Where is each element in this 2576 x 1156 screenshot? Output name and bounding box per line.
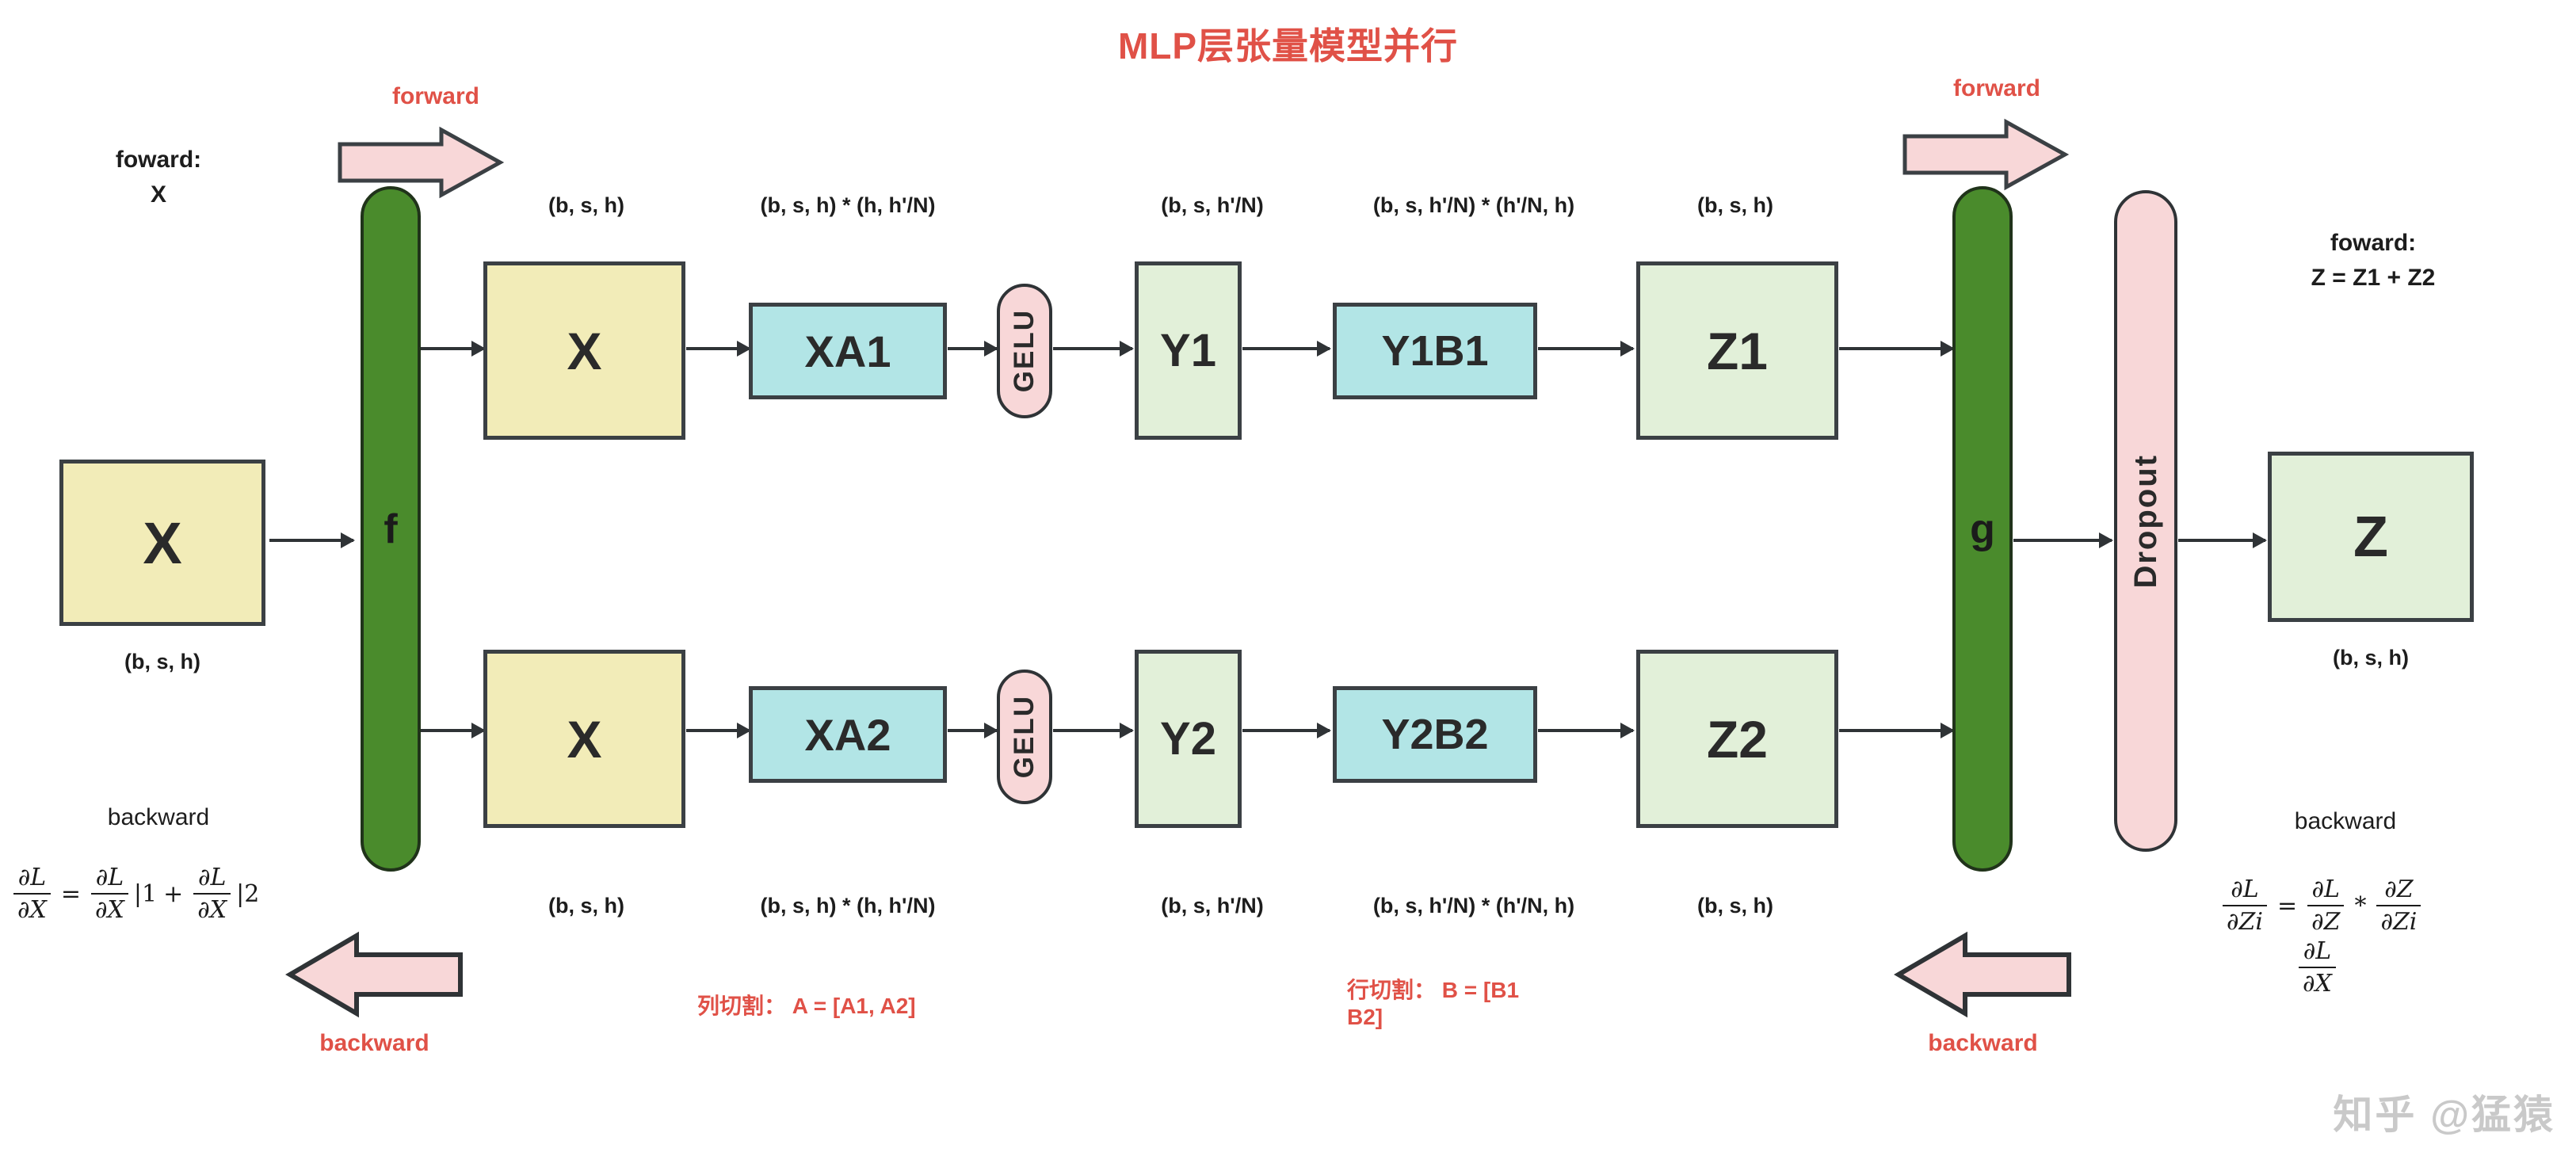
y2-box: Y2 — [1135, 650, 1242, 828]
y2b2-box: Y2B2 — [1333, 686, 1537, 783]
forward-label-left: forward — [341, 83, 531, 110]
formula-left-t2-den: ∂X — [193, 893, 231, 924]
z2-box: Z2 — [1636, 650, 1838, 828]
forward-output-note: foward: Z = Z1 + Z2 — [2242, 226, 2504, 295]
dropout-label: Dropout — [2128, 454, 2164, 589]
column-split-note: 列切割： A = [A1, A2] — [697, 989, 916, 1021]
output-z-box: Z — [2268, 452, 2474, 622]
formula-right-mul: * — [2354, 892, 2366, 920]
g-gate-label: g — [1970, 506, 1995, 553]
shape-label-yb-top: (b, s, h'/N) * (h'/N, h) — [1319, 193, 1628, 218]
connector-gelu-to-y-top — [1053, 347, 1132, 350]
shape-label-xa-top: (b, s, h) * (h, h'/N) — [713, 193, 983, 218]
forward-arrow-left-icon — [337, 127, 503, 198]
formula-left-t2-num: ∂L — [194, 864, 230, 893]
shape-label-yb-bottom: (b, s, h'/N) * (h'/N, h) — [1319, 894, 1628, 918]
backward-label-bottom-left: backward — [285, 1030, 464, 1057]
forward-input-note: foward: X — [55, 143, 261, 212]
connector-g-to-dropout — [2013, 539, 2112, 542]
formula-right-t2-den: ∂Zi — [2376, 905, 2421, 936]
connector-gelu-to-y-bottom — [1053, 729, 1132, 732]
row-split-note: 行切割： B = [B1 B2] — [1347, 973, 1519, 1030]
formula-left-t2-idx: |2 — [236, 880, 259, 908]
xa2-box: XA2 — [749, 686, 947, 783]
backward-label-bottom-right: backward — [1894, 1030, 2072, 1057]
input-x-box: X — [59, 460, 265, 626]
gelu-label-top: GELU — [1009, 309, 1040, 392]
backward-arrow-left-icon — [285, 931, 464, 1018]
formula-left-lhs-num: ∂L — [14, 864, 50, 893]
z1-box: Z1 — [1636, 261, 1838, 440]
formula-left-lhs-den: ∂X — [13, 893, 51, 924]
connector-x-to-xa-bottom — [686, 729, 750, 732]
connector-x-to-f — [269, 539, 353, 542]
formula-right-second-den: ∂X — [2299, 967, 2336, 998]
backward-arrow-right-icon — [1894, 931, 2072, 1018]
shape-label-z-bottom: (b, s, h) — [1644, 894, 1826, 918]
connector-f-to-x-bottom — [421, 729, 484, 732]
shape-label-z-top: (b, s, h) — [1644, 193, 1826, 218]
xa1-box: XA1 — [749, 303, 947, 399]
formula-left-t1-num: ∂L — [92, 864, 128, 893]
connector-x-to-xa-top — [686, 347, 750, 350]
forward-arrow-right-icon — [1902, 119, 2068, 190]
x-box-top: X — [483, 261, 685, 440]
backward-formula-right: ∂L ∂Zi = ∂L ∂Z * ∂Z ∂Zi ∂L ∂X — [2219, 876, 2425, 998]
formula-right-t1-den: ∂Z — [2307, 905, 2344, 936]
connector-xa-to-gelu-bottom — [948, 729, 997, 732]
x-box-bottom: X — [483, 650, 685, 828]
f-gate-bar: f — [361, 186, 421, 872]
shape-label-x-bottom: (b, s, h) — [479, 894, 693, 918]
connector-xa-to-gelu-top — [948, 347, 997, 350]
connector-y-to-yb-bottom — [1242, 729, 1330, 732]
gelu-label-bottom: GELU — [1009, 695, 1040, 778]
backward-formula-left: ∂L ∂X = ∂L ∂X |1 + ∂L ∂X |2 — [10, 864, 259, 924]
connector-z2-to-g — [1839, 729, 1953, 732]
formula-right-lhs-num: ∂L — [2227, 876, 2262, 905]
gelu-pill-bottom: GELU — [997, 670, 1052, 804]
formula-right-second-num: ∂L — [2299, 937, 2335, 967]
connector-yb-to-z-bottom — [1538, 729, 1633, 732]
formula-left-t1-idx: |1 — [134, 880, 157, 908]
backward-text-left: backward — [55, 800, 261, 835]
page-title: MLP层张量模型并行 — [0, 17, 2576, 70]
formula-left-t1-den: ∂X — [91, 893, 128, 924]
connector-f-to-x-top — [421, 347, 484, 350]
formula-left-plus: + — [163, 880, 183, 908]
forward-label-right: forward — [1902, 75, 2092, 102]
input-x-shape-label: (b, s, h) — [59, 650, 265, 674]
gelu-pill-top: GELU — [997, 284, 1052, 418]
formula-right-eq: = — [2277, 892, 2297, 920]
g-gate-bar: g — [1952, 186, 2013, 872]
shape-label-y-bottom: (b, s, h'/N) — [1109, 894, 1315, 918]
dropout-pill: Dropout — [2114, 190, 2177, 852]
shape-label-x-top: (b, s, h) — [479, 193, 693, 218]
shape-label-y-top: (b, s, h'/N) — [1109, 193, 1315, 218]
formula-right-t2-num: ∂Z — [2380, 876, 2417, 905]
shape-label-xa-bottom: (b, s, h) * (h, h'/N) — [713, 894, 983, 918]
y1-box: Y1 — [1135, 261, 1242, 440]
f-gate-label: f — [384, 506, 397, 553]
connector-yb-to-z-top — [1538, 347, 1633, 350]
y1b1-box: Y1B1 — [1333, 303, 1537, 399]
connector-z1-to-g — [1839, 347, 1953, 350]
connector-dropout-to-z — [2178, 539, 2265, 542]
formula-left-eq: = — [61, 880, 81, 908]
formula-right-lhs-den: ∂Zi — [2223, 905, 2267, 936]
output-z-shape-label: (b, s, h) — [2268, 646, 2474, 670]
connector-y-to-yb-top — [1242, 347, 1330, 350]
watermark: 知乎 @猛猿 — [2333, 1083, 2555, 1140]
backward-text-right: backward — [2242, 804, 2448, 839]
formula-right-t1-num: ∂L — [2308, 876, 2344, 905]
